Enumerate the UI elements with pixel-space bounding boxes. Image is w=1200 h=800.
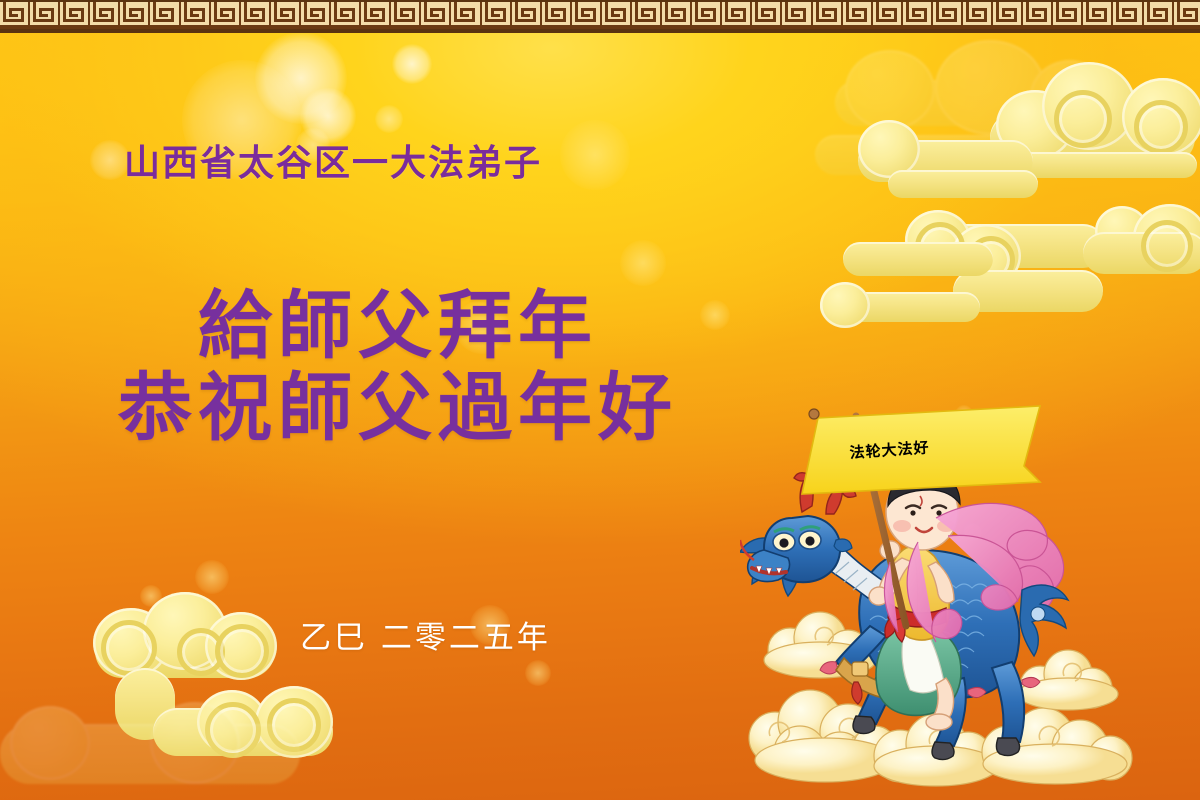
fret-unit xyxy=(181,2,211,29)
bokeh-light xyxy=(700,300,730,330)
fret-unit xyxy=(933,2,963,29)
cloud-swirl xyxy=(1054,90,1112,148)
banner: 法轮大法好 xyxy=(802,406,1040,494)
bokeh-light xyxy=(375,105,403,133)
fret-unit xyxy=(542,2,572,29)
fret-unit xyxy=(30,2,60,29)
fret-unit xyxy=(1174,2,1200,29)
date-label: 乙巳 二零二五年 xyxy=(300,612,551,657)
bokeh-light xyxy=(140,585,162,607)
cloud-swirl xyxy=(967,236,1015,284)
fret-unit xyxy=(903,2,933,29)
fret-unit xyxy=(813,2,843,29)
bokeh-light xyxy=(525,660,551,686)
cloud-swirl xyxy=(1134,100,1188,154)
fret-unit xyxy=(722,2,752,29)
cloud-swirl xyxy=(915,222,965,272)
cloud-right-wisp xyxy=(820,278,1000,348)
child-riding-dragon-illustration: 法轮大法好 xyxy=(740,400,1160,800)
fret-unit xyxy=(752,2,782,29)
cloud-top-right-tail xyxy=(858,112,1048,222)
bokeh-light xyxy=(195,560,229,594)
fret-unit xyxy=(1053,2,1083,29)
fret-unit xyxy=(692,2,722,29)
fret-unit xyxy=(331,2,361,29)
fret-unit xyxy=(572,2,602,29)
fret-unit xyxy=(60,2,90,29)
fret-unit xyxy=(1113,2,1143,29)
fret-unit xyxy=(391,2,421,29)
bokeh-light xyxy=(255,32,347,124)
page-title: 山西省太谷区一大法弟子 xyxy=(124,134,542,186)
fret-unit xyxy=(963,2,993,29)
fret-unit xyxy=(512,2,542,29)
fret-unit xyxy=(782,2,812,29)
fret-unit xyxy=(150,2,180,29)
cloud-swirl xyxy=(267,698,321,752)
fret-unit xyxy=(271,2,301,29)
cloud-swirl xyxy=(177,628,225,676)
cloud-swirl xyxy=(101,620,157,676)
fret-unit xyxy=(993,2,1023,29)
cloud-mid-right xyxy=(905,190,1200,330)
fret-unit xyxy=(211,2,241,29)
cloud-ghost xyxy=(815,40,1145,220)
fret-unit xyxy=(1023,2,1053,29)
fret-unit xyxy=(241,2,271,29)
fret-unit xyxy=(301,2,331,29)
fret-unit xyxy=(451,2,481,29)
cloud-top-right xyxy=(990,60,1200,195)
fret-unit xyxy=(0,2,30,29)
cloud-ghost-bottom-left xyxy=(0,700,330,800)
fret-unit xyxy=(361,2,391,29)
fret-unit xyxy=(1083,2,1113,29)
fret-unit xyxy=(873,2,903,29)
bokeh-light xyxy=(620,240,666,286)
greeting-card: 山西省太谷区一大法弟子 給師父拜年 恭祝師父過年好 乙巳 二零二五年 xyxy=(0,0,1200,800)
fret-unit xyxy=(120,2,150,29)
fret-unit xyxy=(421,2,451,29)
fret-unit xyxy=(662,2,692,29)
meander-fret-border xyxy=(0,0,1200,33)
cloud-swirl xyxy=(205,702,261,758)
fret-unit xyxy=(632,2,662,29)
dragon-tail xyxy=(1020,585,1068,656)
cloud-swirl xyxy=(215,624,269,678)
bokeh-light xyxy=(392,44,432,84)
fret-unit xyxy=(1144,2,1174,29)
fret-unit xyxy=(602,2,632,29)
fret-unit xyxy=(482,2,512,29)
cloud-swirl xyxy=(1141,220,1193,272)
fret-unit xyxy=(843,2,873,29)
bokeh-light xyxy=(560,120,630,190)
greeting-line-2: 恭祝師父過年好 xyxy=(118,348,678,455)
fret-unit xyxy=(90,2,120,29)
